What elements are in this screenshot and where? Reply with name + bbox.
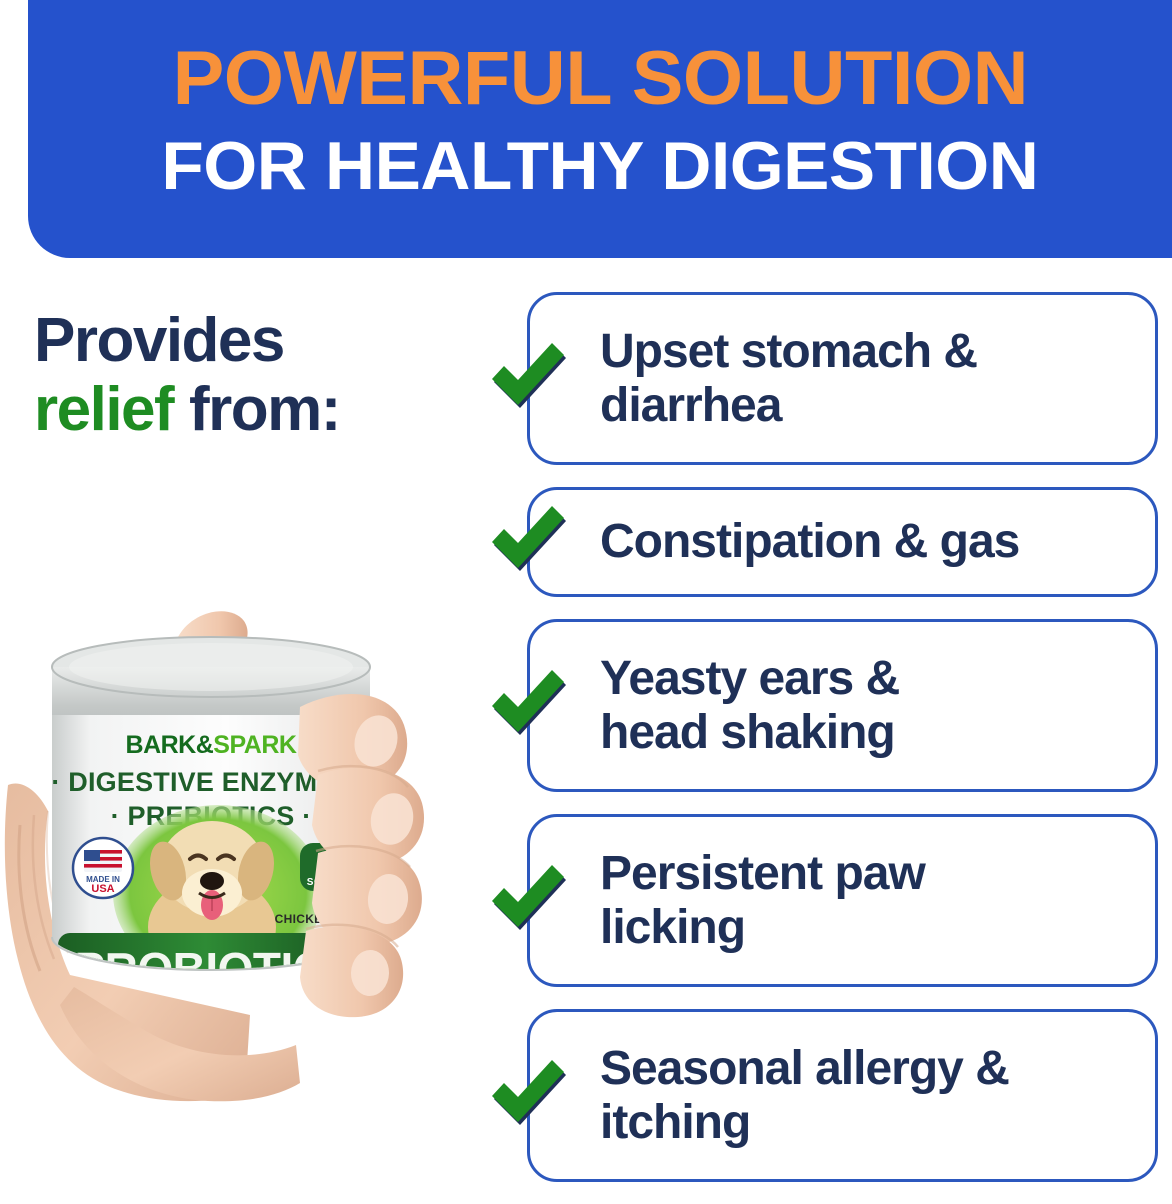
section-headline: Provides relief from: (34, 306, 504, 445)
benefit-text-line2: licking (600, 901, 745, 954)
benefit-card-upset-stomach[interactable]: Upset stomach & diarrhea (527, 292, 1158, 465)
benefit-text-line2: diarrhea (600, 379, 781, 432)
benefit-card-text: Persistent paw licking (600, 847, 925, 955)
benefit-card-text: Yeasty ears & head shaking (600, 652, 899, 760)
benefit-card-yeasty-ears[interactable]: Yeasty ears & head shaking (527, 619, 1158, 792)
benefits-list: Upset stomach & diarrhea Constipation & … (527, 292, 1158, 1204)
benefit-text-line1: Seasonal allergy & (600, 1042, 1009, 1095)
benefit-card-text: Seasonal allergy & itching (600, 1042, 1009, 1150)
banner-headline-secondary: FOR HEALTHY DIGESTION (162, 131, 1039, 202)
green-check-icon (486, 499, 572, 585)
benefit-card-paw-licking[interactable]: Persistent paw licking (527, 814, 1158, 987)
banner-headline-primary: POWERFUL SOLUTION (172, 41, 1028, 117)
green-check-icon (486, 858, 572, 944)
benefit-card-text: Constipation & gas (600, 515, 1019, 569)
brand-light: SPARK (213, 731, 297, 759)
headline-word-relief: relief (34, 375, 173, 444)
benefit-text-line1: Upset stomach & (600, 325, 977, 378)
product-photo: BARK&SPARK · DIGESTIVE ENZYMES · · PREBI… (0, 575, 470, 1170)
green-check-icon (486, 1053, 572, 1139)
made-in-usa-badge: MADE IN USA (73, 838, 133, 898)
benefit-text-line1: Constipation & gas (600, 515, 1019, 568)
badge-usa-text: USA (91, 883, 114, 895)
benefit-card-text: Upset stomach & diarrhea (600, 325, 977, 433)
benefit-card-constipation[interactable]: Constipation & gas (527, 487, 1158, 597)
header-banner: POWERFUL SOLUTION FOR HEALTHY DIGESTION (28, 0, 1172, 258)
benefit-text-line1: Yeasty ears & (600, 652, 899, 705)
benefit-card-seasonal-allergy[interactable]: Seasonal allergy & itching (527, 1009, 1158, 1182)
brand-dark: BARK& (126, 731, 214, 759)
green-check-icon (486, 663, 572, 749)
benefit-text-line2: head shaking (600, 706, 895, 759)
brand-text: BARK&SPARK (126, 731, 297, 759)
benefit-text-line2: itching (600, 1096, 750, 1149)
headline-word-from: from: (189, 375, 340, 444)
headline-word-provides: Provides (34, 306, 284, 375)
benefit-text-line1: Persistent paw (600, 847, 925, 900)
